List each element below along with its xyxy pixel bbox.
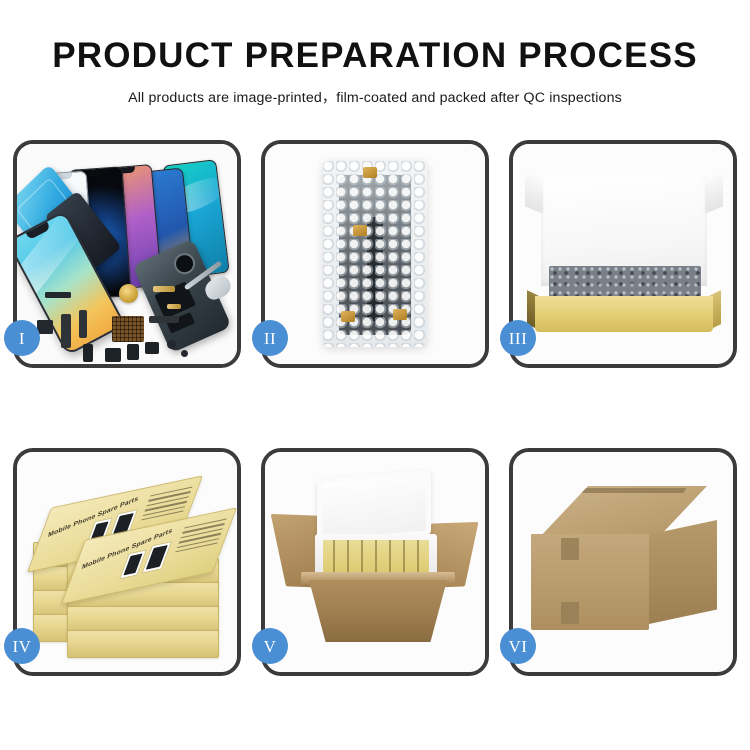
small-part — [83, 344, 93, 362]
process-step-2: II — [261, 140, 489, 368]
step-badge-4: IV — [4, 628, 40, 664]
page-title: PRODUCT PREPARATION PROCESS — [0, 38, 750, 75]
step-6-image — [513, 452, 733, 672]
step-5-image — [265, 452, 485, 672]
small-part — [127, 344, 139, 360]
packed-yellow-boxes — [323, 540, 429, 572]
carton-body — [309, 580, 447, 642]
process-step-4: Mobile Phone Spare Parts Mobile Phone Sp… — [13, 448, 241, 676]
flex-cable-part — [61, 314, 71, 348]
gold-connector-part — [167, 304, 181, 309]
carton-front-face — [531, 534, 649, 630]
carton-tape — [561, 538, 579, 560]
step-badge-3: III — [500, 320, 536, 356]
small-part — [145, 342, 159, 354]
process-step-6: VI — [509, 448, 737, 676]
flex-cable-part — [149, 316, 179, 323]
speaker-coil-part — [119, 284, 138, 303]
page-header: PRODUCT PREPARATION PROCESS All products… — [0, 0, 750, 107]
yellow-box-front — [535, 296, 713, 332]
retail-box — [67, 630, 219, 658]
step-badge-2: II — [252, 320, 288, 356]
small-part — [37, 320, 53, 334]
retail-box-stack: Mobile Phone Spare Parts Mobile Phone Sp… — [27, 480, 235, 656]
small-part — [45, 292, 71, 298]
step-badge-6: VI — [500, 628, 536, 664]
chip-grid-part — [112, 316, 144, 342]
step-1-image — [17, 144, 237, 364]
step-4-image: Mobile Phone Spare Parts Mobile Phone Sp… — [17, 452, 237, 672]
process-step-3: III — [509, 140, 737, 368]
tape-piece — [341, 311, 355, 322]
carton-seam — [571, 488, 686, 493]
carton-tape — [561, 602, 579, 624]
process-step-1: I — [13, 140, 241, 368]
bubble-wrap-bag — [323, 161, 427, 347]
step-3-image — [513, 144, 733, 364]
tape-piece — [363, 167, 377, 178]
tape-piece — [353, 225, 367, 236]
small-part — [105, 348, 121, 362]
page-subtitle: All products are image-printed，film-coat… — [0, 87, 750, 107]
carton-side-face — [649, 520, 717, 624]
flex-cable-part — [79, 310, 87, 338]
process-step-grid: I II III — [13, 140, 737, 676]
step-badge-5: V — [252, 628, 288, 664]
screw-part — [181, 350, 188, 357]
bubble-texture — [323, 161, 427, 347]
step-badge-1: I — [4, 320, 40, 356]
gold-connector-part — [153, 286, 175, 292]
step-2-image — [265, 144, 485, 364]
sealed-carton — [531, 486, 717, 636]
process-step-5: V — [261, 448, 489, 676]
retail-box-spec-lines — [174, 519, 227, 557]
tape-piece — [393, 309, 407, 320]
screw-part — [167, 340, 176, 349]
